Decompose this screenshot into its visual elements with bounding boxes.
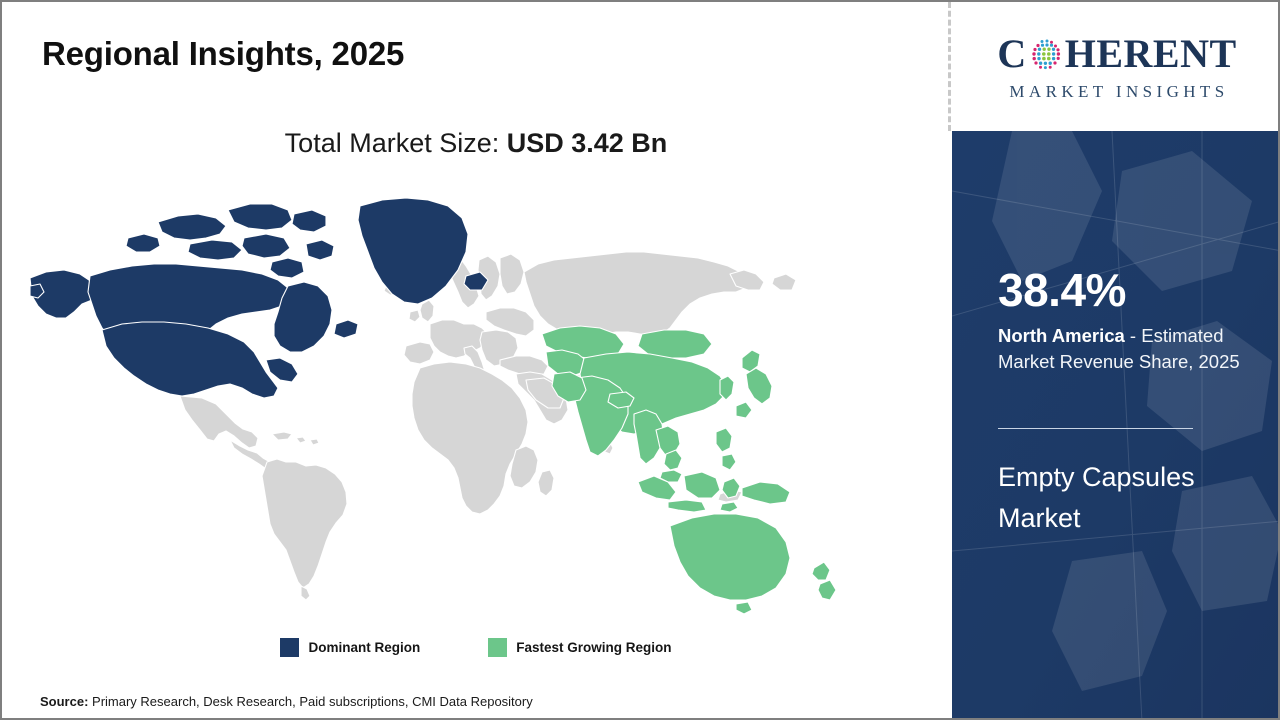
total-market-size-label: Total Market Size: bbox=[285, 128, 507, 158]
stat-divider-rule bbox=[998, 428, 1193, 429]
source-note: Source: Primary Research, Desk Research,… bbox=[40, 694, 533, 709]
infographic-root: Regional Insights, 2025 Total Market Siz… bbox=[0, 0, 1280, 720]
fastest-growing-region-swatch bbox=[488, 638, 507, 657]
region-name: North America bbox=[998, 325, 1125, 346]
legend-item-dominant: Dominant Region bbox=[280, 638, 420, 657]
world-map-svg bbox=[30, 182, 850, 622]
source-label: Source: bbox=[40, 694, 88, 709]
map-legend: Dominant Region Fastest Growing Region bbox=[2, 638, 950, 657]
logo-letter-c: C bbox=[997, 34, 1026, 74]
brand-logo: C bbox=[952, 2, 1280, 131]
logo-wordmark: C bbox=[997, 31, 1236, 77]
world-map bbox=[30, 182, 850, 622]
revenue-share-caption: North America - Estimated Market Revenue… bbox=[998, 323, 1260, 376]
source-text: Primary Research, Desk Research, Paid su… bbox=[88, 694, 532, 709]
left-content-panel: Regional Insights, 2025 Total Market Siz… bbox=[2, 2, 950, 720]
map-region-asia-pacific bbox=[542, 326, 836, 614]
stat-panel-content: 38.4% North America - Estimated Market R… bbox=[998, 131, 1268, 720]
logo-subtitle: MARKET INSIGHTS bbox=[1005, 82, 1228, 102]
dotted-globe-icon bbox=[1028, 37, 1064, 73]
total-market-size: Total Market Size: USD 3.42 Bn bbox=[2, 128, 950, 159]
page-title: Regional Insights, 2025 bbox=[42, 35, 404, 73]
total-market-size-value: USD 3.42 Bn bbox=[507, 128, 668, 158]
legend-item-fastest-growing: Fastest Growing Region bbox=[488, 638, 671, 657]
legend-label-dominant: Dominant Region bbox=[308, 640, 420, 655]
legend-label-fastest-growing: Fastest Growing Region bbox=[516, 640, 671, 655]
dominant-region-swatch bbox=[280, 638, 299, 657]
logo-letters-herent: HERENT bbox=[1065, 34, 1237, 74]
stat-panel: 38.4% North America - Estimated Market R… bbox=[952, 131, 1280, 720]
revenue-share-percent: 38.4% bbox=[998, 267, 1126, 313]
market-name: Empty Capsules Market bbox=[998, 457, 1248, 540]
panel-divider bbox=[948, 2, 951, 131]
map-region-north-america bbox=[30, 198, 488, 398]
